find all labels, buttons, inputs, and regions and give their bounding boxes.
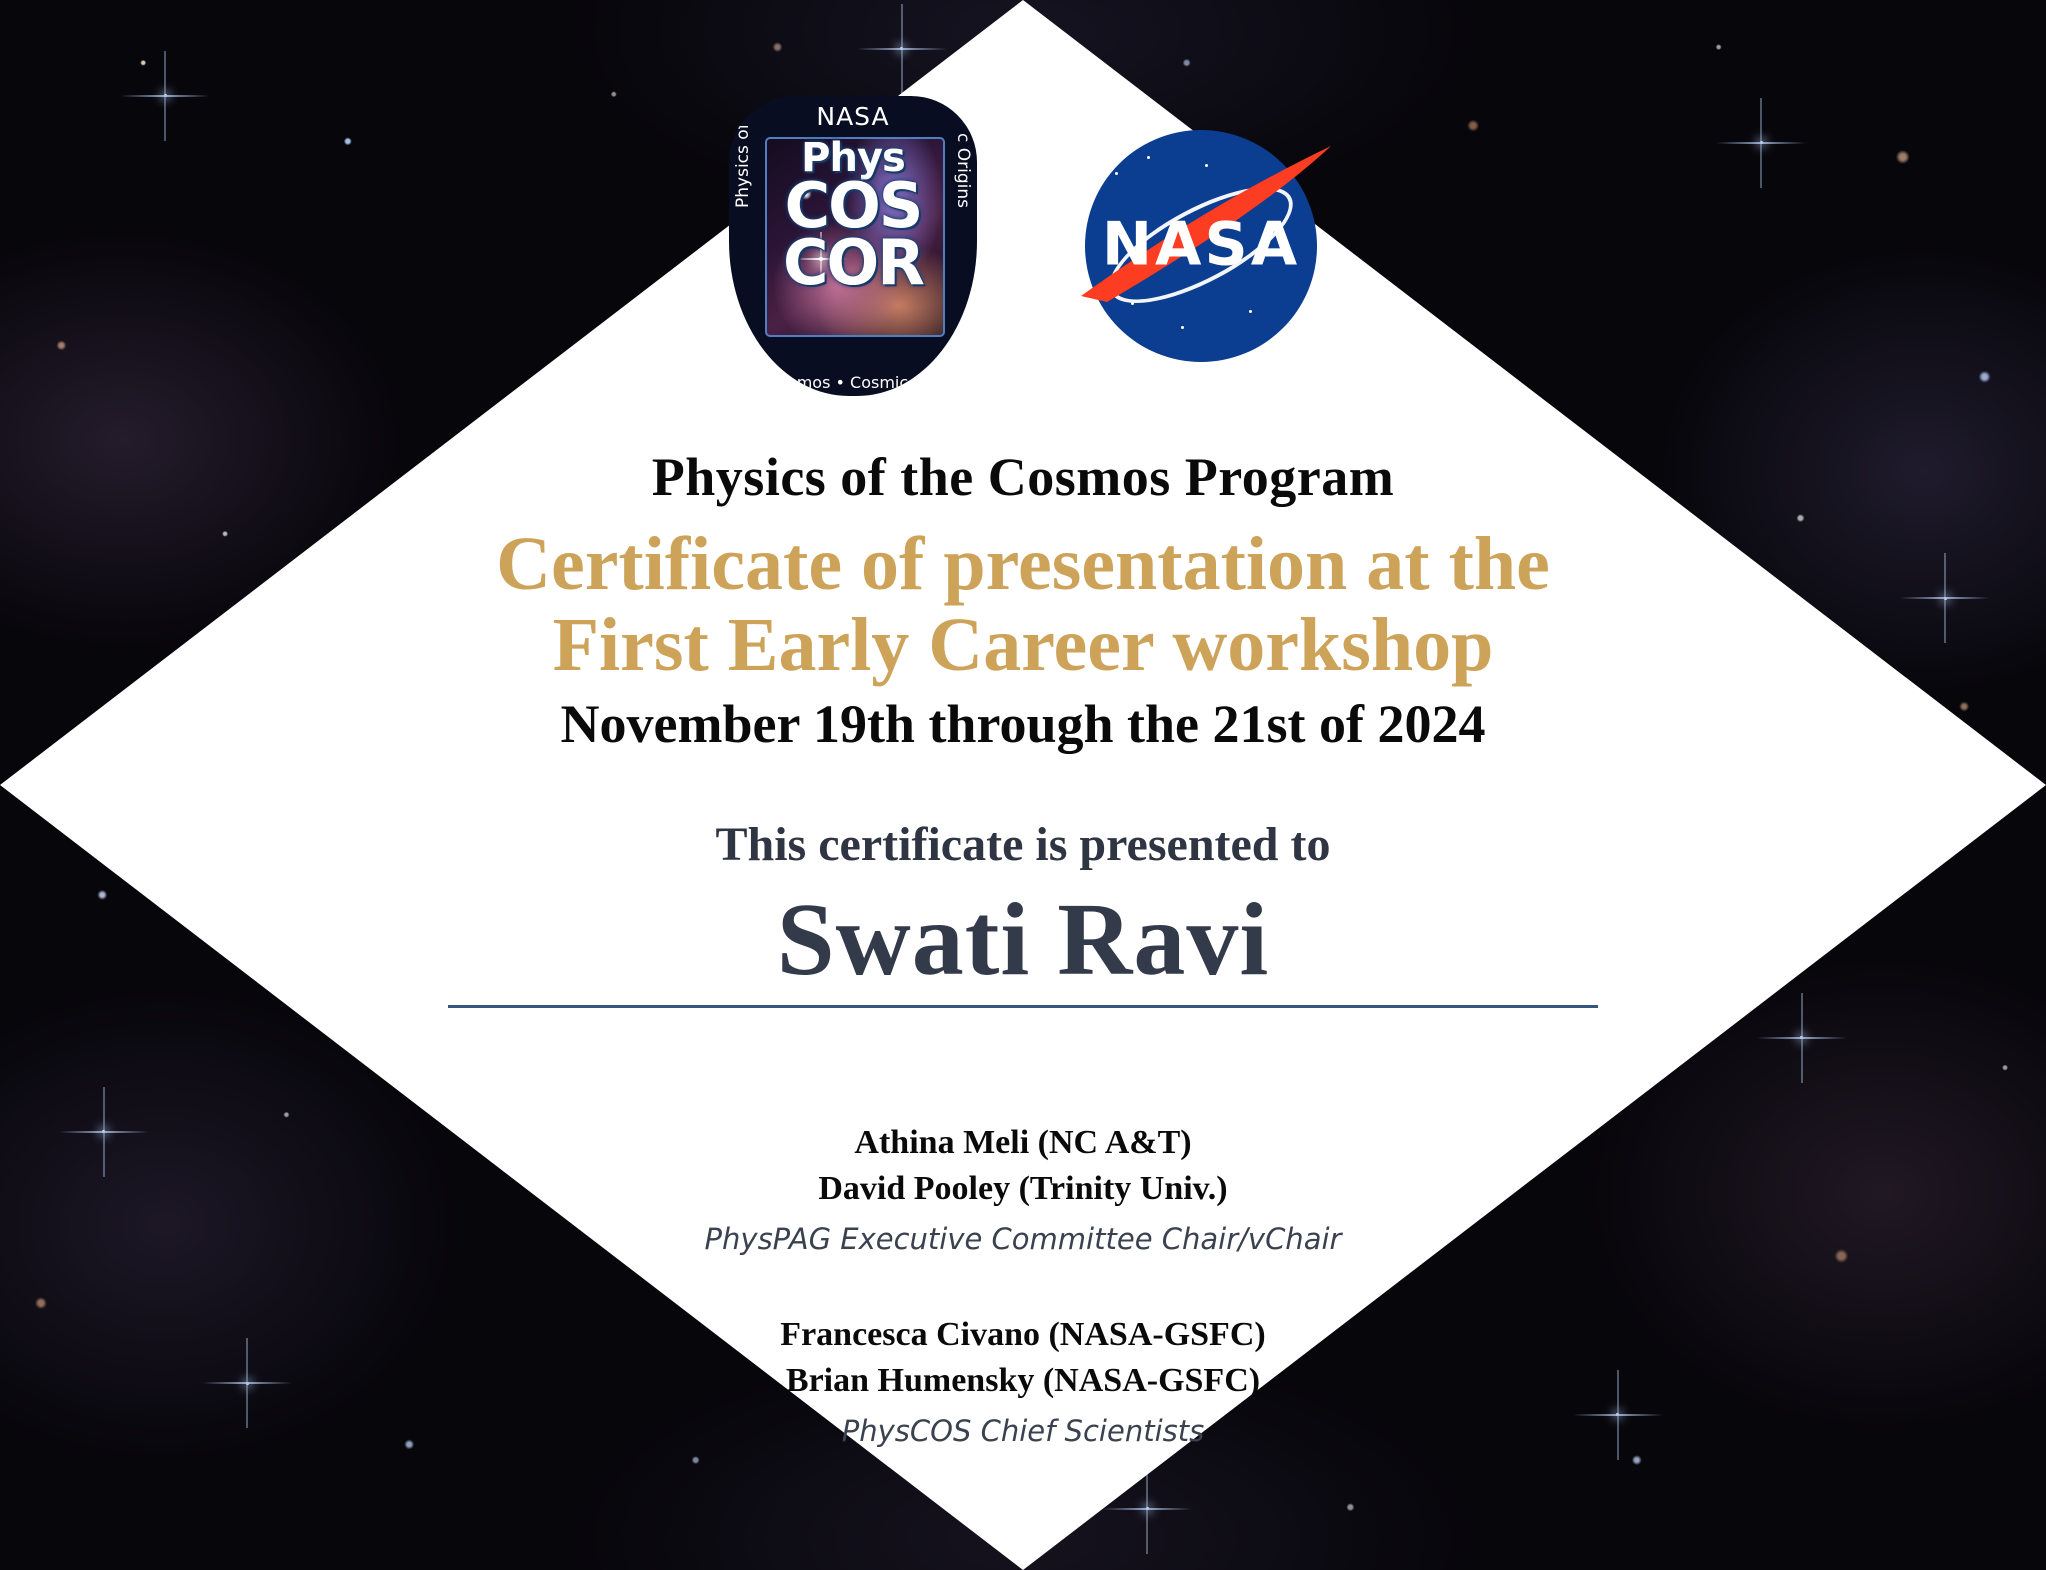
- certificate-title: Certificate of presentation at the First…: [496, 524, 1550, 685]
- signer-name: Francesca Civano (NASA-GSFC): [705, 1312, 1342, 1358]
- signer-name: Athina Meli (NC A&T): [705, 1120, 1342, 1166]
- physcos-nebula-image: [765, 137, 945, 337]
- physcos-left-arc-text: Physics of: [733, 123, 753, 208]
- certificate-content: NASA Phys COS COR Physics of c Origins t…: [0, 0, 2046, 1570]
- signature-block: Athina Meli (NC A&T) David Pooley (Trini…: [705, 1120, 1342, 1448]
- physcos-bottom-arc-text: the Cosmos • Cosmic Origins: [729, 373, 977, 392]
- certificate-date: November 19th through the 21st of 2024: [561, 693, 1486, 755]
- physcos-star-spark-icon: [819, 257, 823, 261]
- recipient-underline-rule: [448, 1005, 1598, 1008]
- recipient-name: Swati Ravi: [777, 880, 1269, 999]
- logo-row: NASA Phys COS COR Physics of c Origins t…: [729, 96, 1317, 396]
- signer-name: David Pooley (Trinity Univ.): [705, 1166, 1342, 1212]
- program-title: Physics of the Cosmos Program: [652, 446, 1394, 508]
- physcos-right-arc-text: c Origins: [953, 133, 973, 208]
- signer-name: Brian Humensky (NASA-GSFC): [705, 1358, 1342, 1404]
- nasa-wordmark: NASA: [1085, 210, 1317, 280]
- certificate-page: NASA Phys COS COR Physics of c Origins t…: [0, 0, 2046, 1570]
- physcos-logo-icon: NASA Phys COS COR Physics of c Origins t…: [729, 96, 977, 396]
- presented-to-label: This certificate is presented to: [716, 817, 1331, 872]
- signer-role: PhysCOS Chief Scientists: [705, 1414, 1342, 1448]
- signer-role: PhysPAG Executive Committee Chair/vChair: [705, 1222, 1342, 1256]
- signature-group-physcos: Francesca Civano (NASA-GSFC) Brian Humen…: [705, 1312, 1342, 1448]
- physcos-nasa-label: NASA: [729, 102, 977, 131]
- signature-group-physpag: Athina Meli (NC A&T) David Pooley (Trini…: [705, 1120, 1342, 1256]
- certificate-title-line-1: Certificate of presentation at the: [496, 524, 1550, 605]
- certificate-title-line-2: First Early Career workshop: [496, 605, 1550, 686]
- nasa-meatball-icon: NASA: [1085, 130, 1317, 362]
